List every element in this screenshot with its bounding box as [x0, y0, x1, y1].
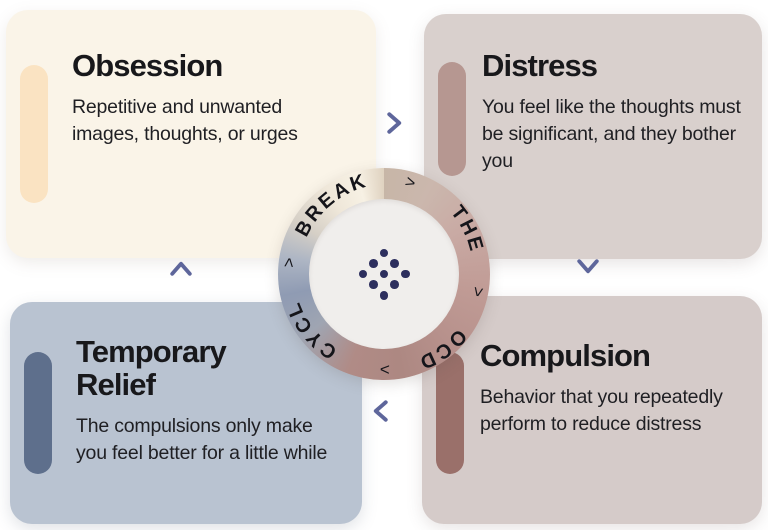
hub-dot-diamond-icon — [359, 249, 409, 299]
card-temporary-relief-description: The compulsions only make you feel bette… — [76, 413, 340, 467]
card-distress-description: You feel like the thoughts must be signi… — [482, 94, 746, 175]
card-obsession-content: Obsession Repetitive and unwanted images… — [72, 50, 354, 148]
chevron-right-icon — [378, 108, 408, 138]
card-obsession-description: Repetitive and unwanted images, thoughts… — [72, 94, 354, 148]
ocd-cycle-diagram: Obsession Repetitive and unwanted images… — [0, 0, 768, 530]
break-the-ocd-cycle-wheel: BREAK > THE > OCD > CYCLE — [278, 168, 490, 380]
card-compulsion-content: Compulsion Behavior that you repeatedly … — [480, 340, 746, 438]
chevron-left-icon — [367, 396, 397, 426]
card-compulsion-title: Compulsion — [480, 340, 746, 373]
accent-bar-temporary-relief — [24, 352, 52, 474]
chevron-up-icon — [166, 255, 196, 285]
chevron-down-icon — [573, 250, 603, 280]
card-compulsion-description: Behavior that you repeatedly perform to … — [480, 384, 746, 438]
accent-bar-obsession — [20, 65, 48, 203]
accent-bar-distress — [438, 62, 466, 176]
card-distress-content: Distress You feel like the thoughts must… — [482, 50, 746, 175]
card-obsession-title: Obsession — [72, 50, 354, 83]
card-distress-title: Distress — [482, 50, 746, 83]
